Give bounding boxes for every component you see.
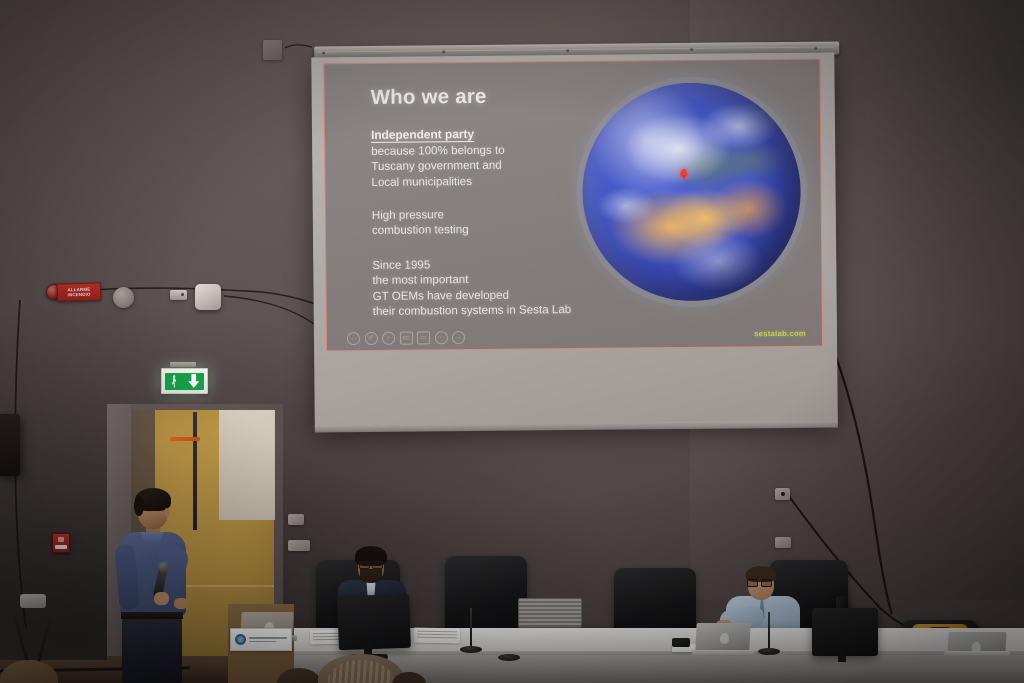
down-arrow-icon	[187, 374, 200, 388]
exit-sign-bracket	[170, 362, 196, 367]
wall-speaker-left	[0, 414, 20, 476]
exit-sign-panel	[165, 373, 204, 390]
monitor-right	[812, 608, 878, 656]
more-options-icon[interactable]: ⋯	[434, 331, 447, 344]
corridor-orange-pipe	[170, 437, 200, 441]
location-marker-icon	[680, 169, 687, 178]
laptop-user-glasses-icon	[747, 579, 772, 585]
monitor-right-stand	[838, 652, 846, 662]
monitor-left	[337, 594, 411, 650]
radiator-grille	[518, 598, 582, 628]
wall-plate-left-lower	[288, 540, 310, 551]
wall-plate-right-lower	[775, 537, 791, 548]
globe-sphere	[582, 82, 802, 302]
earth-globe-image	[573, 76, 807, 314]
slide-paragraph-high-pressure: High pressure combustion testing	[372, 207, 469, 239]
corridor-far-wall	[219, 410, 275, 520]
fire-alarm-sign: ALLARME INCENDIO	[57, 282, 101, 301]
slide-website-url: sestalab.com	[754, 329, 806, 338]
presenter-hand-holding-mic	[154, 592, 169, 605]
next-slide-icon[interactable]: →	[452, 331, 465, 344]
placard-logo-icon	[235, 634, 246, 645]
slide-lead-text: Independent party	[371, 127, 474, 142]
presenter-ear	[164, 508, 170, 517]
screen-fabric: Who we are Independent party because 100…	[311, 52, 838, 427]
office-chair-2[interactable]	[445, 556, 527, 638]
wifi-access-point-icon	[195, 284, 221, 310]
wall-junction-box-top	[263, 40, 282, 60]
presenter-belt	[121, 612, 183, 619]
ceiling-speaker-icon	[113, 287, 134, 308]
projected-image-area: Who we are Independent party because 100…	[323, 59, 823, 352]
emergency-exit-sign	[161, 368, 208, 394]
display-icon[interactable]: ▭	[417, 331, 430, 344]
zoom-icon[interactable]: ⌕	[382, 332, 395, 345]
laptop-base	[944, 651, 1010, 657]
paper-document-2	[414, 628, 460, 644]
pen-icon[interactable]: ✐	[364, 332, 377, 345]
laptop-far-right[interactable]	[944, 632, 1010, 658]
presenter-other-hand	[174, 598, 188, 609]
panelist-beard	[360, 569, 382, 583]
tripod-head	[20, 594, 46, 608]
wall-sensor-icon	[170, 290, 187, 300]
slide-paragraph-since-1995: Since 1995 the most important GT OEMs ha…	[372, 256, 571, 320]
laptop-lid	[695, 623, 750, 651]
captions-icon[interactable]: cc	[399, 332, 412, 345]
wall-plate-left-upper	[288, 514, 304, 525]
panelist-glasses-icon	[359, 561, 383, 567]
fire-alarm-call-point-icon	[52, 533, 70, 553]
laptop-center[interactable]	[692, 623, 754, 657]
slide-title: Who we are	[371, 85, 487, 110]
table-name-placard	[230, 628, 292, 651]
wall-plate-right-upper	[775, 488, 790, 500]
previous-slide-icon[interactable]: ←	[347, 332, 360, 345]
presenter-legs	[122, 617, 182, 683]
slide-paragraph-independent-party: because 100% belongs to Tuscany governme…	[371, 143, 505, 190]
placard-text-lines	[249, 635, 287, 644]
conference-room-photo: Who we are Independent party because 100…	[0, 0, 1024, 683]
running-person-icon	[169, 375, 180, 388]
presentation-slide: Who we are Independent party because 100…	[324, 60, 822, 351]
presenter-toolbar[interactable]: ← ✐ ⌕ cc ▭ ⋯ →	[347, 331, 465, 345]
presenter-hair-side	[134, 496, 144, 516]
laptop-base	[692, 650, 754, 656]
laptop-lid	[947, 632, 1006, 652]
laptop-logo-icon	[720, 633, 730, 644]
presenter-with-microphone	[112, 488, 198, 683]
projection-screen: Who we are Independent party because 100…	[306, 41, 843, 428]
fire-alarm-sign-line2: INCENDIO	[67, 292, 90, 298]
smartphone-on-table[interactable]	[672, 638, 690, 647]
